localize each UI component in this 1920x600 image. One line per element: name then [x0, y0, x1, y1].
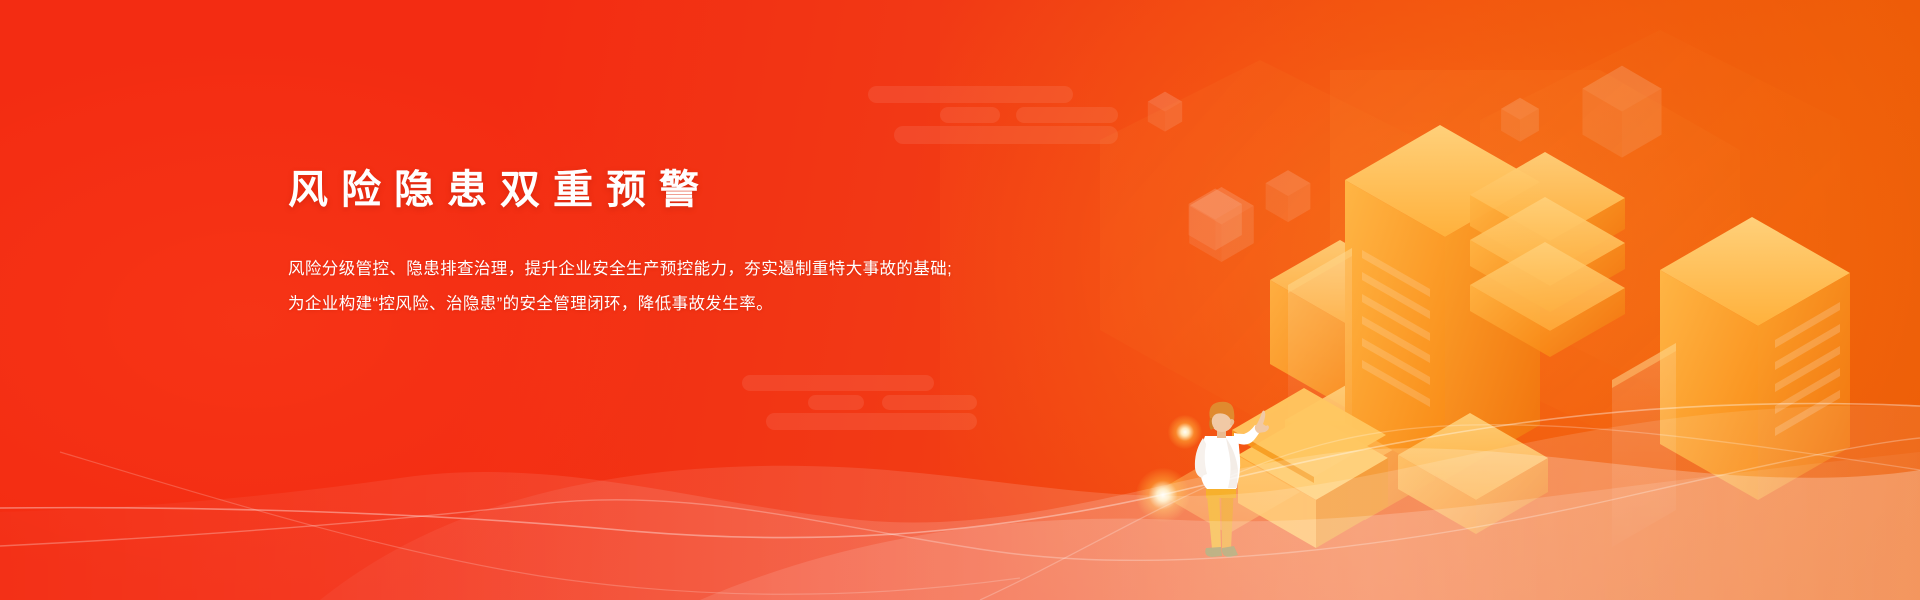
page-title: 风险隐患双重预警 — [288, 170, 988, 210]
hero-subtitle-line-2: 为企业构建“控风险、治隐患”的安全管理闭环，降低事故发生率。 — [288, 287, 988, 322]
hero-banner: 风险隐患双重预警 风险分级管控、隐患排查治理，提升企业安全生产预控能力，夯实遏制… — [0, 0, 1920, 600]
hero-subtitle: 风险分级管控、隐患排查治理，提升企业安全生产预控能力，夯实遏制重特大事故的基础;… — [288, 252, 988, 322]
hero-copy: 风险隐患双重预警 风险分级管控、隐患排查治理，提升企业安全生产预控能力，夯实遏制… — [288, 170, 988, 322]
hero-subtitle-line-1: 风险分级管控、隐患排查治理，提升企业安全生产预控能力，夯实遏制重特大事故的基础; — [288, 252, 988, 287]
